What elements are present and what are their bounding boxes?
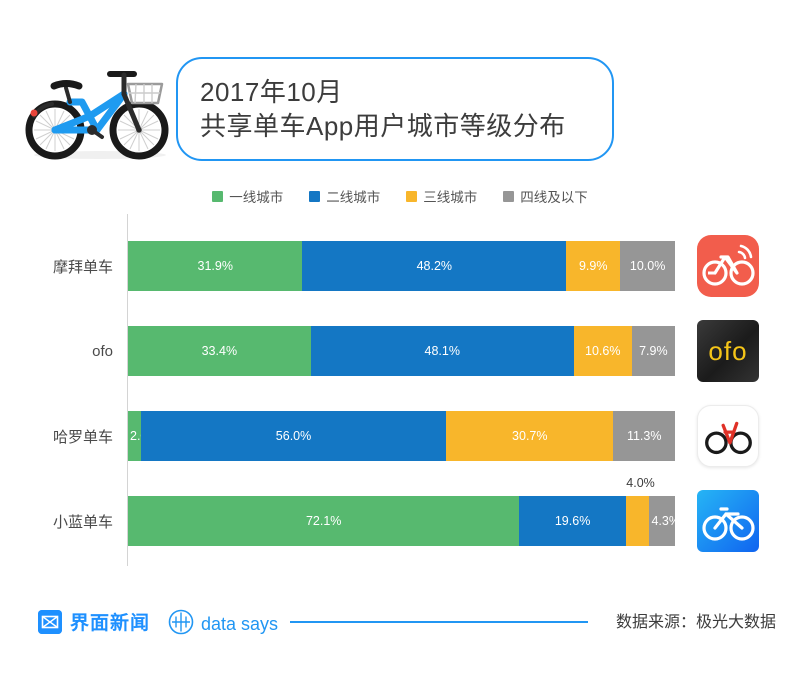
bar-segment[interactable]: 10.6% bbox=[574, 326, 632, 376]
footer-divider-left bbox=[290, 621, 580, 623]
stacked-bar: 33.4%48.1%10.6%7.9% bbox=[128, 326, 675, 376]
legend-label: 四线及以下 bbox=[520, 186, 588, 206]
legend-item-tier3[interactable]: 三线城市 bbox=[406, 186, 477, 206]
row-category-label: 摩拜单车 bbox=[0, 241, 113, 291]
legend-swatch-icon bbox=[212, 191, 223, 202]
ofo-app-icon[interactable]: ofo bbox=[697, 320, 759, 382]
bar-segment[interactable]: 72.1% bbox=[128, 496, 519, 546]
legend-swatch-icon bbox=[406, 191, 417, 202]
source-attribution: 数据来源：极光大数据 bbox=[616, 608, 776, 632]
bar-segment[interactable] bbox=[626, 496, 650, 546]
header: 2017年10月 共享单车App用户城市等级分布 bbox=[0, 0, 800, 180]
row-category-label: 小蓝单车 bbox=[0, 496, 113, 546]
bar-segment[interactable]: 48.2% bbox=[302, 241, 566, 291]
chart-row: 摩拜单车31.9%48.2%9.9%10.0% bbox=[0, 241, 800, 291]
chart-row: 哈罗单车2.0%56.0%30.7%11.3% bbox=[0, 411, 800, 461]
title-line-subject: 共享单车App用户城市等级分布 bbox=[200, 109, 612, 143]
bar-segment[interactable]: 19.6% bbox=[519, 496, 625, 546]
row-category-label: ofo bbox=[0, 326, 113, 376]
title-line-date: 2017年10月 bbox=[200, 75, 612, 109]
title-box: 2017年10月 共享单车App用户城市等级分布 bbox=[176, 57, 614, 161]
legend-label: 二线城市 bbox=[326, 186, 380, 206]
stacked-bar: 72.1%19.6%4.3% bbox=[128, 496, 675, 546]
bar-segment[interactable]: 31.9% bbox=[128, 241, 302, 291]
legend-item-tier1[interactable]: 一线城市 bbox=[212, 186, 283, 206]
legend-swatch-icon bbox=[309, 191, 320, 202]
legend-item-tier4[interactable]: 四线及以下 bbox=[503, 186, 588, 206]
stacked-bar: 2.0%56.0%30.7%11.3% bbox=[128, 411, 675, 461]
footer-divider-right bbox=[562, 621, 588, 623]
chart-row: 小蓝单车72.1%19.6%4.3% bbox=[0, 496, 800, 546]
bar-segment[interactable]: 10.0% bbox=[620, 241, 675, 291]
jiemian-mark-icon bbox=[38, 610, 62, 634]
bar-segment[interactable]: 33.4% bbox=[128, 326, 311, 376]
bar-segment[interactable]: 11.3% bbox=[613, 411, 675, 461]
chart-legend: 一线城市 二线城市 三线城市 四线及以下 bbox=[0, 186, 800, 206]
legend-label: 一线城市 bbox=[229, 186, 283, 206]
jiemian-news-logo[interactable]: 界面新闻 bbox=[38, 608, 150, 635]
mobike-app-icon[interactable] bbox=[697, 235, 759, 297]
segment-outside-label: 4.0% bbox=[626, 476, 655, 490]
chart-row: ofo33.4%48.1%10.6%7.9% bbox=[0, 326, 800, 376]
footer: 界面新闻 data says 数据来源：极光大数据 bbox=[0, 596, 800, 652]
jiemian-brand-name: 界面新闻 bbox=[70, 608, 150, 635]
bar-segment[interactable]: 30.7% bbox=[446, 411, 613, 461]
bluegogo-app-icon[interactable] bbox=[697, 490, 759, 552]
legend-item-tier2[interactable]: 二线城市 bbox=[309, 186, 380, 206]
bar-segment[interactable]: 4.3% bbox=[649, 496, 675, 546]
data-says-label: data says bbox=[201, 614, 278, 635]
shared-bicycle-illustration bbox=[22, 58, 177, 163]
stacked-bar-chart: 摩拜单车31.9%48.2%9.9%10.0%ofo33.4%48.1%10.6… bbox=[0, 214, 800, 580]
data-says-mark-icon bbox=[168, 609, 194, 640]
bar-segment[interactable]: 2.0% bbox=[128, 411, 141, 461]
bar-segment[interactable]: 9.9% bbox=[566, 241, 620, 291]
stacked-bar: 31.9%48.2%9.9%10.0% bbox=[128, 241, 675, 291]
hellobike-app-icon[interactable] bbox=[697, 405, 759, 467]
bar-segment[interactable]: 48.1% bbox=[311, 326, 574, 376]
row-category-label: 哈罗单车 bbox=[0, 411, 113, 461]
legend-swatch-icon bbox=[503, 191, 514, 202]
bar-segment[interactable]: 56.0% bbox=[141, 411, 446, 461]
data-says-logo[interactable]: data says bbox=[168, 609, 278, 640]
bar-segment[interactable]: 7.9% bbox=[632, 326, 675, 376]
legend-label: 三线城市 bbox=[423, 186, 477, 206]
